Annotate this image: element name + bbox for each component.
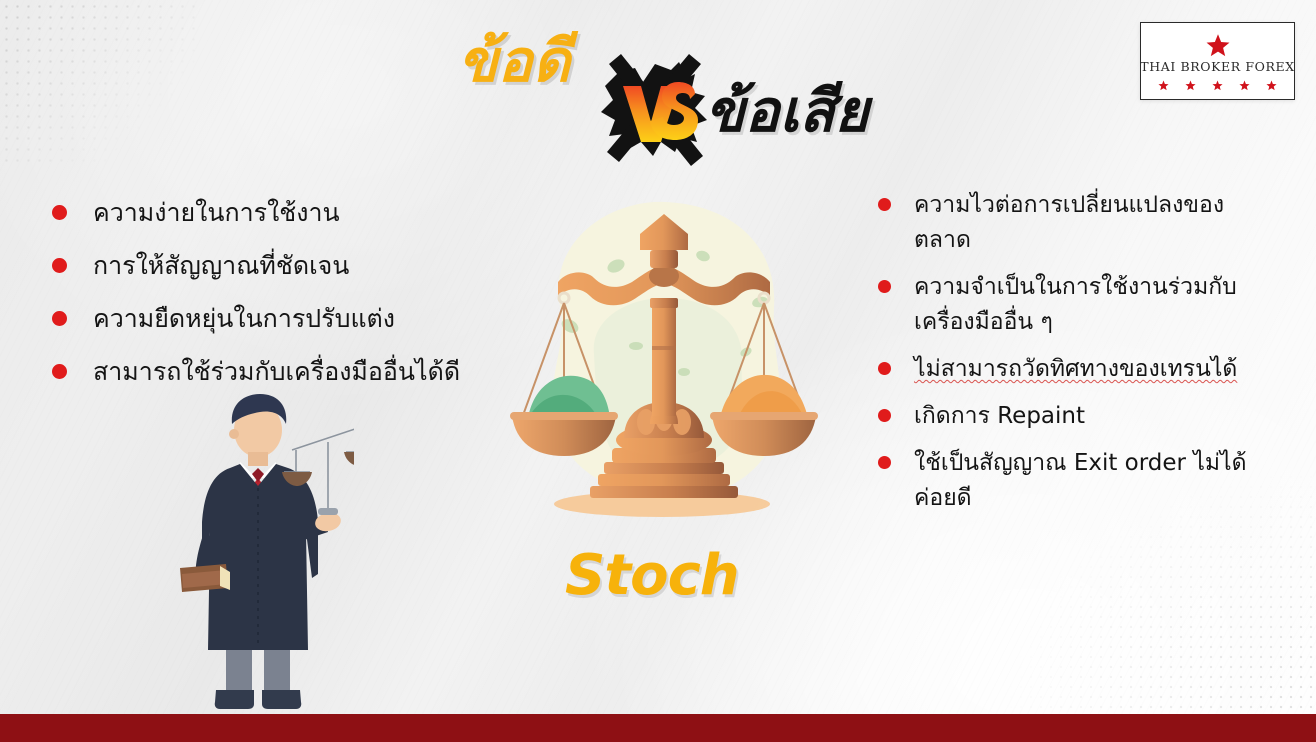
cons-item-label: ใช้เป็นสัญญาณ Exit order ไม่ได้ค่อยดี bbox=[914, 446, 1278, 516]
cons-item-label: ความจำเป็นในการใช้งานร่วมกับเครื่องมืออื… bbox=[914, 270, 1278, 340]
list-item: ความง่ายในการใช้งาน bbox=[52, 194, 522, 232]
pros-item-label: ความง่ายในการใช้งาน bbox=[93, 194, 340, 232]
list-item: การให้สัญญาณที่ชัดเจน bbox=[52, 247, 522, 285]
pros-list: ความง่ายในการใช้งาน การให้สัญญาณที่ชัดเจ… bbox=[52, 194, 522, 406]
cons-list: ความไวต่อการเปลี่ยนแปลงของตลาด ความจำเป็… bbox=[878, 188, 1278, 528]
list-item: ความจำเป็นในการใช้งานร่วมกับเครื่องมืออื… bbox=[878, 270, 1278, 340]
bullet-dot-icon bbox=[52, 311, 67, 326]
balance-scale-icon bbox=[498, 186, 822, 536]
cons-item-label: เกิดการ Repaint bbox=[914, 399, 1085, 434]
pros-title: ข้อดี bbox=[458, 32, 570, 90]
indicator-name-label: Stoch bbox=[565, 548, 739, 604]
list-item: ไม่สามารถวัดทิศทางของเทรนได้ bbox=[878, 352, 1278, 387]
versus-badge-icon bbox=[583, 38, 723, 178]
pros-item-label: ความยืดหยุ่นในการปรับแต่ง bbox=[93, 300, 395, 338]
judge-figure-icon bbox=[168, 382, 354, 712]
bullet-dot-icon bbox=[878, 362, 891, 375]
bullet-dot-icon bbox=[52, 205, 67, 220]
headline-block: ข้อดี ข้อเ bbox=[0, 0, 1316, 175]
bullet-dot-icon bbox=[878, 456, 891, 469]
pros-item-label: การให้สัญญาณที่ชัดเจน bbox=[93, 247, 349, 285]
cons-item-label: ความไวต่อการเปลี่ยนแปลงของตลาด bbox=[914, 188, 1278, 258]
bullet-dot-icon bbox=[52, 258, 67, 273]
bullet-dot-icon bbox=[52, 364, 67, 379]
infographic-slide: THAI BROKER FOREX ข้อดี bbox=[0, 0, 1316, 742]
list-item: ใช้เป็นสัญญาณ Exit order ไม่ได้ค่อยดี bbox=[878, 446, 1278, 516]
bullet-dot-icon bbox=[878, 280, 891, 293]
bullet-dot-icon bbox=[878, 198, 891, 211]
list-item: ความไวต่อการเปลี่ยนแปลงของตลาด bbox=[878, 188, 1278, 258]
bottom-accent-bar bbox=[0, 714, 1316, 742]
cons-item-label: ไม่สามารถวัดทิศทางของเทรนได้ bbox=[914, 352, 1237, 387]
list-item: ความยืดหยุ่นในการปรับแต่ง bbox=[52, 300, 522, 338]
bullet-dot-icon bbox=[878, 409, 891, 422]
cons-title: ข้อเสีย bbox=[705, 82, 869, 140]
list-item: เกิดการ Repaint bbox=[878, 399, 1278, 434]
